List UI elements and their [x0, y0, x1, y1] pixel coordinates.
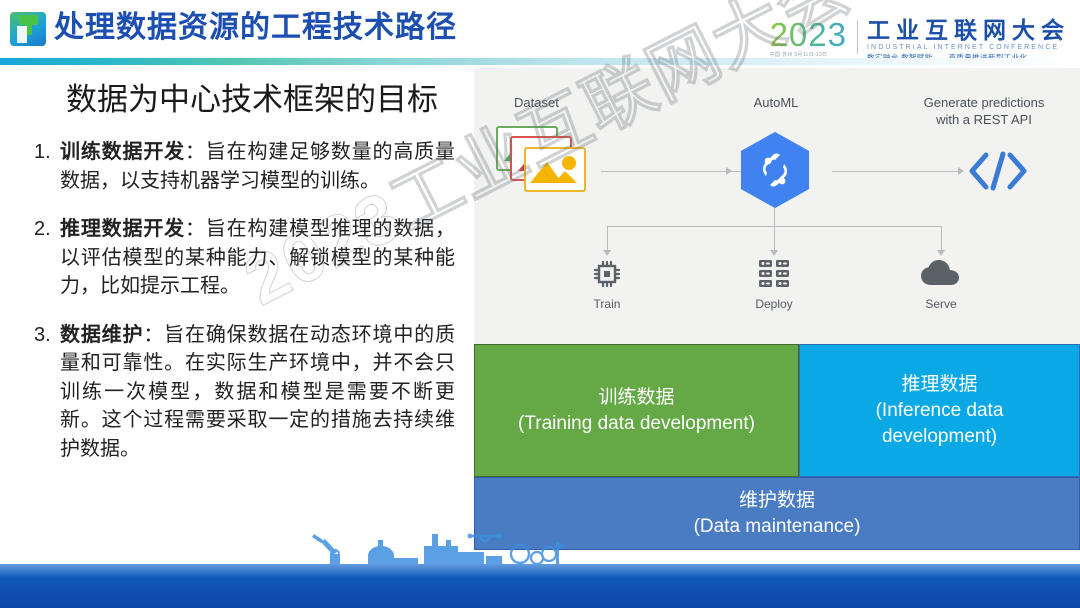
image-card-yellow-art — [526, 149, 584, 190]
stage-serve: Serve — [896, 256, 986, 312]
list-item-number: 3. — [22, 321, 60, 464]
list-item-term: 推理数据开发 — [60, 218, 185, 240]
stage-deploy: Deploy — [729, 256, 819, 312]
dataset-label: Dataset — [494, 94, 614, 111]
arrow-to-automl-icon — [726, 167, 732, 175]
block-data-maintenance: 维护数据 (Data maintenance) — [474, 477, 1080, 550]
rest-api-label-line1: Generate predictions — [896, 94, 1072, 111]
block-inference-text: 推理数据 (Inference data development) — [868, 372, 1012, 450]
block-inference-data: 推理数据 (Inference data development) — [799, 344, 1080, 477]
stacked-images-icon — [496, 126, 601, 196]
automl-label: AutoML — [706, 94, 846, 111]
slide-header: 处理数据资源的工程技术路径 2023 中国·苏州 5月11日-13日 工业互联网… — [0, 0, 1080, 56]
block-inference-en-line1: (Inference data — [876, 398, 1004, 424]
platform-t-logo-icon — [10, 12, 46, 46]
server-grid-icon — [729, 256, 819, 292]
logo-t-accent — [17, 26, 27, 43]
block-training-cn: 训练数据 — [518, 385, 755, 411]
pipeline-flow-area: Dataset AutoML Generate predictions with… — [474, 68, 1080, 342]
automl-pipeline-diagram: Dataset AutoML Generate predictions with… — [474, 68, 1080, 550]
list-item-term: 数据维护 — [60, 324, 143, 346]
conference-logo-divider — [857, 20, 858, 54]
cloud-icon — [896, 256, 986, 292]
list-item-number: 2. — [22, 215, 60, 301]
conference-year: 2023 — [770, 18, 847, 51]
conference-name-cn: 工业互联网大会 — [867, 18, 1070, 43]
conference-name-block: 工业互联网大会 INDUSTRIAL INTERNET CONFERENCE 数… — [867, 18, 1070, 63]
image-card-yellow — [524, 147, 586, 192]
bullet-list: 1. 训练数据开发：旨在构建足够数量的高质量数据，以支持机器学习模型的训练。 2… — [22, 138, 467, 483]
left-content-pane: 数据为中心技术框架的目标 1. 训练数据开发：旨在构建足够数量的高质量数据，以支… — [0, 66, 470, 546]
block-maintenance-en: (Data maintenance) — [694, 514, 861, 540]
connector-automl-to-api — [832, 171, 962, 172]
stage-train: Train — [562, 256, 652, 312]
block-training-text: 训练数据 (Training data development) — [510, 385, 763, 437]
chip-icon — [562, 256, 652, 292]
list-item-body: 训练数据开发：旨在构建足够数量的高质量数据，以支持机器学习模型的训练。 — [60, 138, 467, 195]
block-inference-en-line2: development) — [876, 424, 1004, 450]
block-maintenance-text: 维护数据 (Data maintenance) — [686, 488, 869, 540]
arrow-to-api-icon — [958, 167, 964, 175]
block-training-data: 训练数据 (Training data development) — [474, 344, 799, 477]
rest-api-label: Generate predictions with a REST API — [896, 94, 1072, 128]
list-item-term: 训练数据开发 — [60, 141, 185, 163]
hexagon-automl-icon — [739, 130, 811, 210]
stage-deploy-label: Deploy — [729, 297, 819, 312]
footer-band — [0, 564, 1080, 608]
slide-canvas: 处理数据资源的工程技术路径 2023 中国·苏州 5月11日-13日 工业互联网… — [0, 0, 1080, 608]
list-item: 1. 训练数据开发：旨在构建足够数量的高质量数据，以支持机器学习模型的训练。 — [22, 138, 467, 195]
stage-serve-label: Serve — [896, 297, 986, 312]
code-brackets-icon — [966, 150, 1030, 192]
conference-year-block: 2023 中国·苏州 5月11日-13日 — [770, 18, 857, 59]
block-training-en: (Training data development) — [518, 411, 755, 437]
list-item: 3. 数据维护：旨在确保数据在动态环境中的质量和可靠性。在实际生产环境中，并不会… — [22, 321, 467, 464]
block-inference-cn: 推理数据 — [876, 372, 1004, 398]
list-item-body: 推理数据开发：旨在构建模型推理的数据，以评估模型的某种能力、解锁模型的某种能力，… — [60, 215, 467, 301]
rest-api-label-line2: with a REST API — [896, 111, 1072, 128]
list-item: 2. 推理数据开发：旨在构建模型推理的数据，以评估模型的某种能力、解锁模型的某种… — [22, 215, 467, 301]
header-gradient-divider — [0, 58, 1080, 65]
block-maintenance-cn: 维护数据 — [694, 488, 861, 514]
page-title: 处理数据资源的工程技术路径 — [54, 6, 457, 50]
conference-name-en: INDUSTRIAL INTERNET CONFERENCE — [867, 43, 1070, 53]
section-heading: 数据为中心技术框架的目标 — [66, 80, 438, 120]
list-item-number: 1. — [22, 138, 60, 195]
conference-logo: 2023 中国·苏州 5月11日-13日 工业互联网大会 INDUSTRIAL … — [770, 18, 1070, 60]
list-item-body: 数据维护：旨在确保数据在动态环境中的质量和可靠性。在实际生产环境中，并不会只训练… — [60, 321, 467, 464]
stage-train-label: Train — [562, 297, 652, 312]
